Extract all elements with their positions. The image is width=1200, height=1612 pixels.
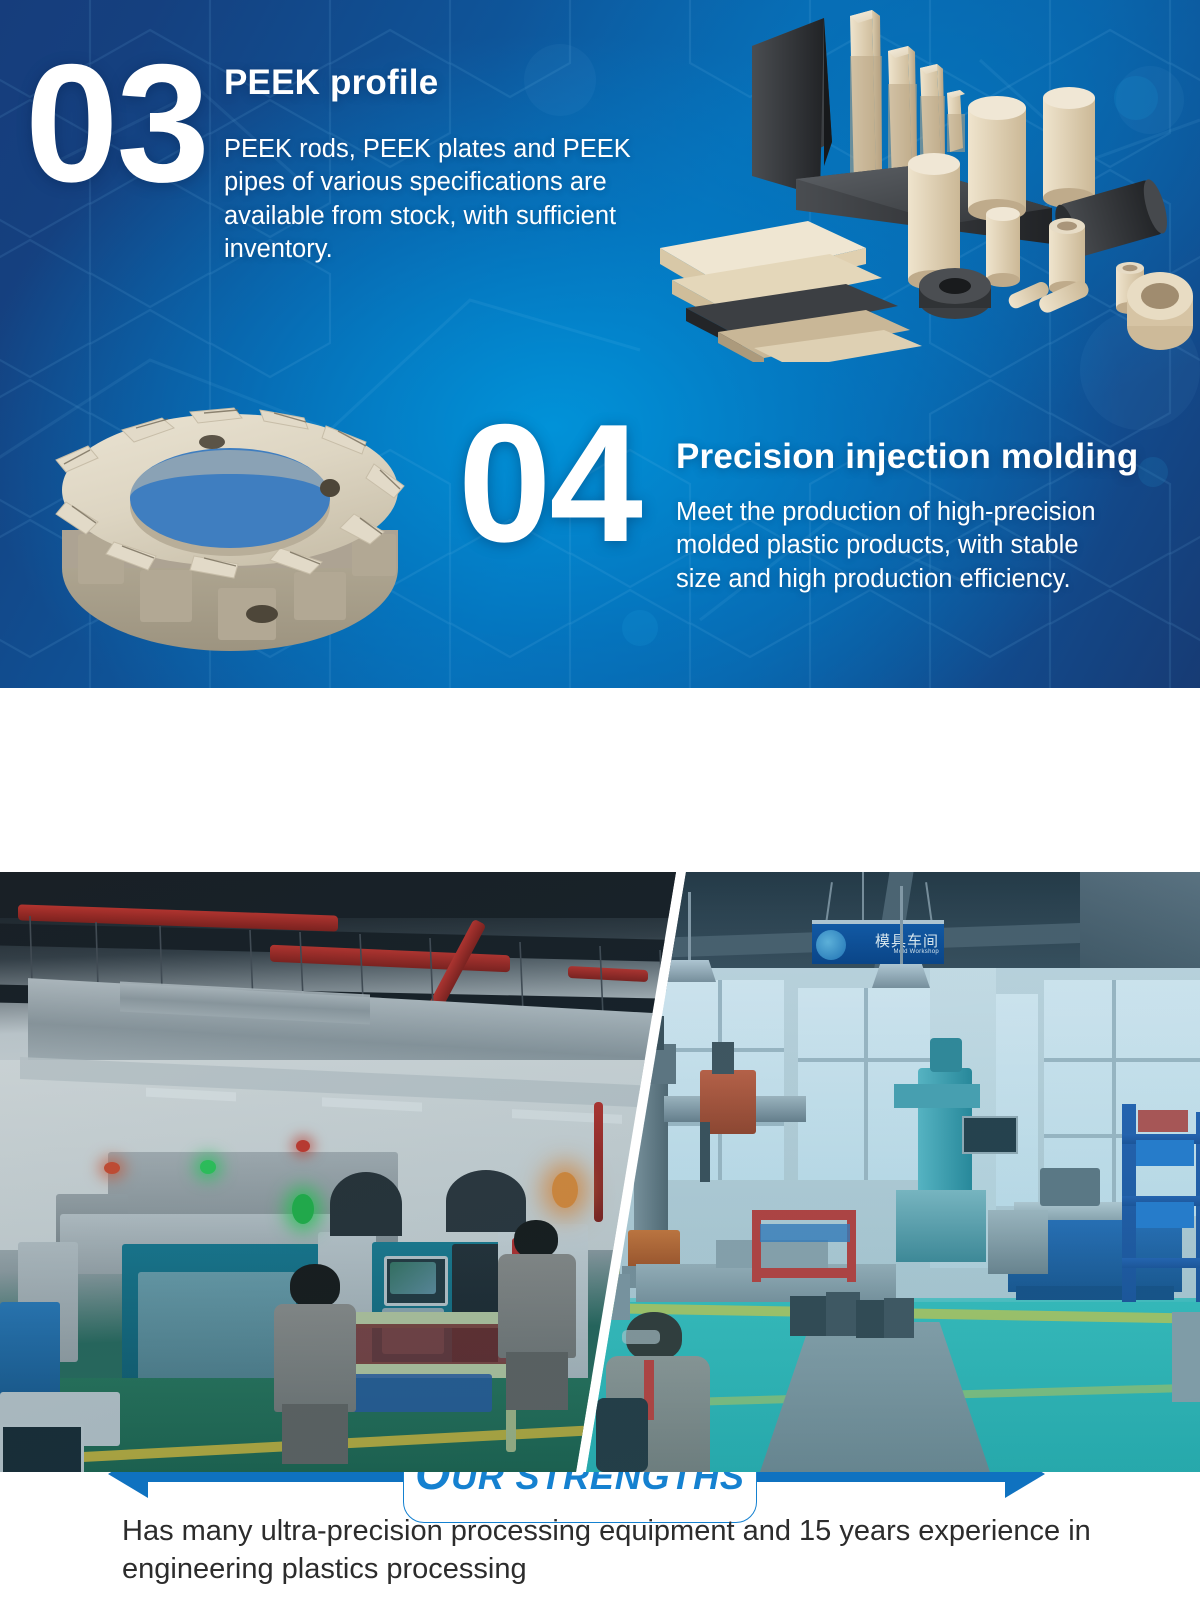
bottom-caption: Has many ultra-precision processing equi… — [122, 1513, 1132, 1589]
sign-text-cn: 模具车间 — [875, 933, 939, 950]
factory-photo-band: 模具车间 Mold Workshop — [0, 872, 1200, 1472]
photo-cnc-machining-workshop — [0, 872, 680, 1472]
feature-body-04: Meet the production of high-precision mo… — [676, 496, 1108, 596]
peek-profile-product-image — [660, 0, 1200, 362]
features-blue-panel: 03 PEEK profile PEEK rods, PEEK plates a… — [0, 0, 1200, 688]
sign-text-block: 模具车间 Mold Workshop — [875, 934, 944, 955]
strengths-banner: OUR STRENGTHS — [0, 688, 1200, 870]
feature-body-03: PEEK rods, PEEK plates and PEEK pipes of… — [224, 133, 654, 266]
feature-number-03: 03 — [25, 53, 208, 194]
sign-logo-icon — [816, 930, 846, 960]
mold-workshop-sign-board: 模具车间 Mold Workshop — [812, 920, 944, 964]
feature-title-04: Precision injection molding — [676, 437, 1138, 477]
feature-number-04: 04 — [458, 413, 641, 554]
feature-title-03: PEEK profile — [224, 63, 438, 103]
peek-gear-ring-product-image — [22, 382, 442, 682]
